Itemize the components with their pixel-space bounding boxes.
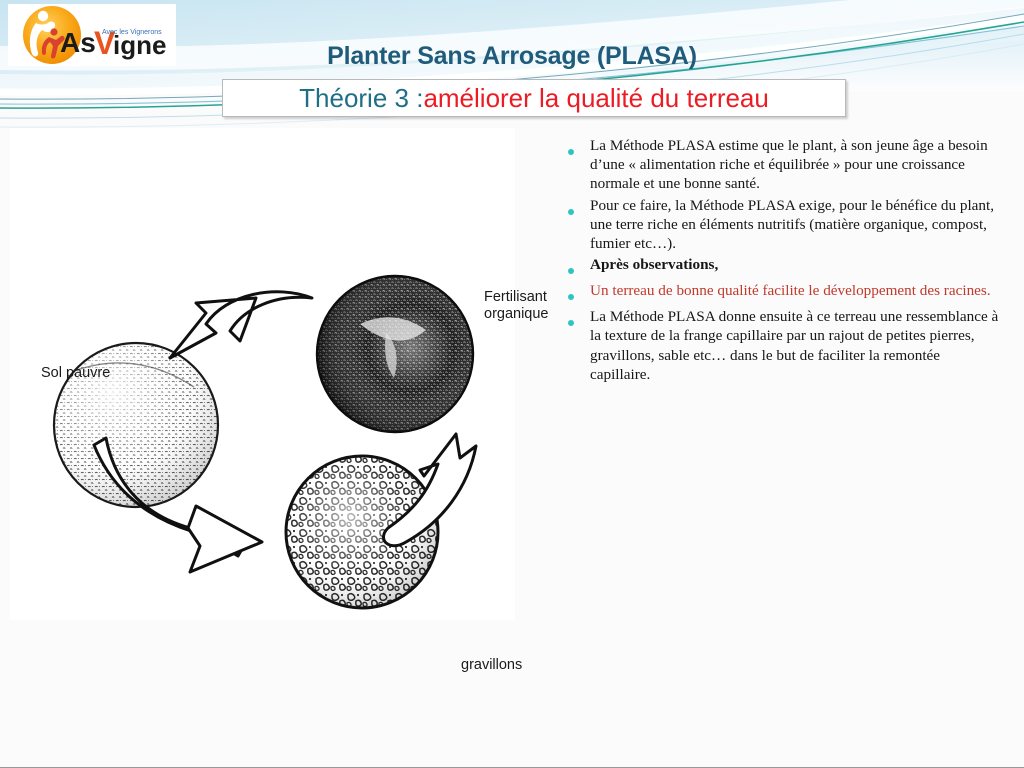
soil-cycle-diagram: Sol pauvre Fertilisant organique gravill…	[10, 128, 515, 620]
slide-canvas: As V igne Avec les Vignerons Planter San…	[0, 0, 1024, 768]
bullet-text: Un terreau de bonne qualité facilite le …	[590, 281, 1004, 300]
subtitle-theory-label: Théorie 3 :	[299, 83, 423, 114]
bullet-text: Pour ce faire, la Méthode PLASA exige, p…	[590, 196, 1004, 254]
bullet-text: Après observations,	[590, 255, 1004, 274]
content-bullet-list: La Méthode PLASA estime que le plant, à …	[568, 136, 1004, 386]
list-item: La Méthode PLASA estime que le plant, à …	[568, 136, 1004, 194]
slide-main-title: Planter Sans Arrosage (PLASA)	[0, 42, 1024, 71]
bullet-text: La Méthode PLASA donne ensuite à ce terr…	[590, 307, 1004, 384]
slide-subtitle-box: Théorie 3 :améliorer la qualité du terre…	[222, 79, 846, 117]
bullet-dot-icon	[568, 307, 590, 331]
diagram-label-poor-soil: Sol pauvre	[41, 365, 110, 382]
bullet-dot-icon	[568, 196, 590, 220]
organic-fertilizer-sphere	[317, 276, 473, 432]
svg-text:Avec les Vignerons: Avec les Vignerons	[102, 29, 162, 36]
diagram-label-gravel: gravillons	[461, 657, 522, 674]
list-item: Après observations,	[568, 255, 1004, 279]
list-item: Pour ce faire, la Méthode PLASA exige, p…	[568, 196, 1004, 254]
bullet-dot-icon	[568, 281, 590, 305]
list-item: La Méthode PLASA donne ensuite à ce terr…	[568, 307, 1004, 384]
bullet-dot-icon	[568, 136, 590, 160]
list-item: Un terreau de bonne qualité facilite le …	[568, 281, 1004, 305]
bullet-dot-icon	[568, 255, 590, 279]
diagram-label-fertilizer: Fertilisant organique	[484, 289, 549, 323]
bullet-text: La Méthode PLASA estime que le plant, à …	[590, 136, 1004, 194]
subtitle-theory-value: améliorer la qualité du terreau	[423, 83, 768, 114]
